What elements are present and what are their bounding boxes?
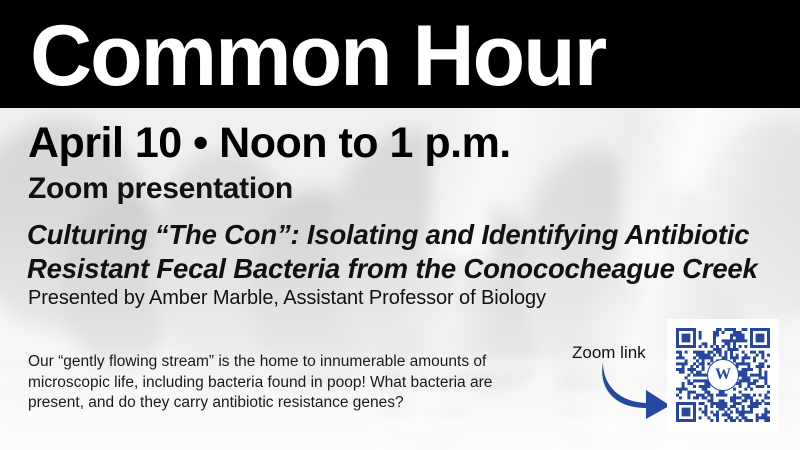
curved-arrow-icon (600, 358, 672, 420)
talk-title: Culturing “The Con”: Isolating and Ident… (27, 218, 787, 286)
wilson-w-logo: W (707, 359, 739, 391)
qr-code[interactable]: W (667, 319, 779, 431)
common-hour-poster: Common Hour April 10 • Noon to 1 p.m. Zo… (0, 0, 800, 450)
abstract-text: Our “gently flowing stream” is the home … (28, 352, 548, 414)
event-format: Zoom presentation (28, 172, 293, 206)
event-datetime: April 10 • Noon to 1 p.m. (28, 119, 511, 167)
presenter-line: Presented by Amber Marble, Assistant Pro… (28, 286, 546, 311)
